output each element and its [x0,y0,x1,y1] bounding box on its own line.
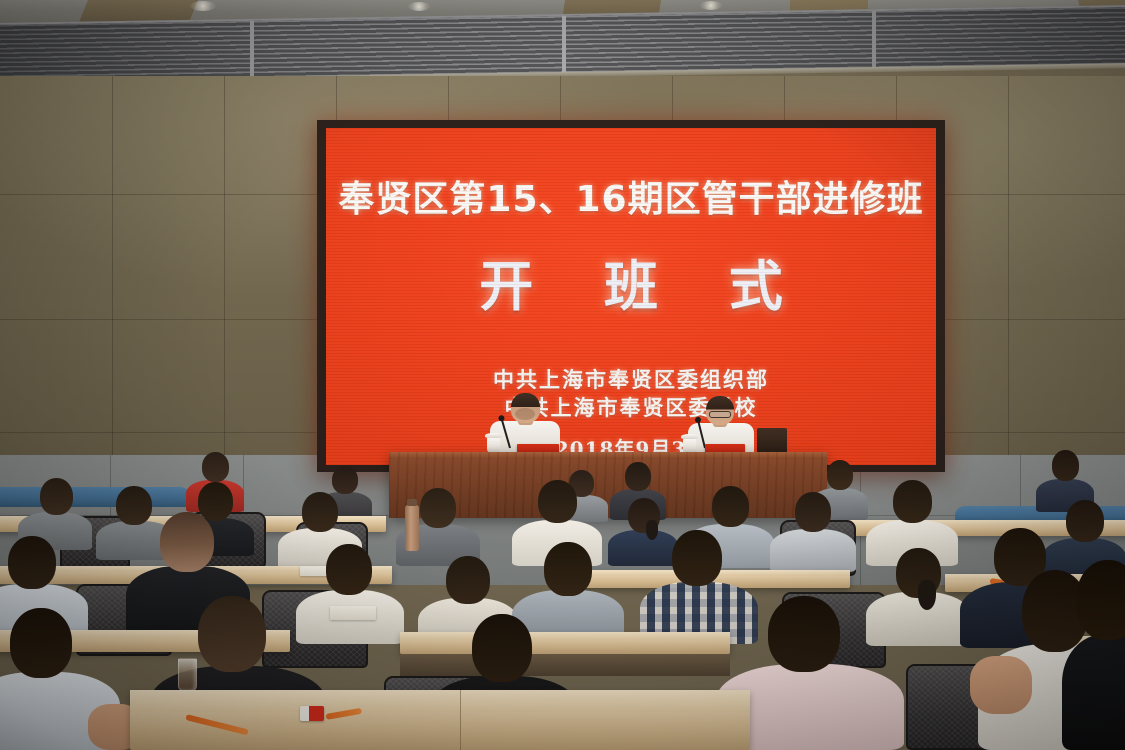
head [538,480,577,523]
audience-person-r2-9 [770,492,856,572]
plastic-cup-foreground [178,658,197,691]
audience-person-r4-1 [0,608,120,750]
head [40,478,73,515]
head [10,608,72,678]
official-right-glasses-icon [709,411,731,418]
ceiling-spotlight-1 [190,1,216,11]
desk-split-seam [460,690,461,750]
ponytail [918,580,936,610]
head [446,556,490,604]
head [893,480,932,523]
head [332,466,358,494]
body [1062,634,1125,750]
head [544,542,592,596]
teacup-lid-left-icon [485,433,502,438]
body [770,529,856,572]
wall-seam-v-1 [112,76,113,476]
led-display-bezel: 奉贤区第15、16期区管干部进修班 开 班 式 中共上海市奉贤区委组织部 中共上… [317,120,945,472]
screen-headline: 开 班 式 [453,260,809,314]
ceiling-spotlight-3 [700,1,722,10]
screen-org-line-1: 中共上海市奉贤区委组织部 [493,366,769,394]
name-badge-foreground [300,706,324,721]
head [202,452,229,482]
wall-seam-v-2 [224,76,225,476]
led-display-screen: 奉贤区第15、16期区管干部进修班 开 班 式 中共上海市奉贤区委组织部 中共上… [326,128,936,465]
head [472,614,532,682]
head [1052,450,1079,481]
head [8,536,56,589]
official-left-face-shadow [515,408,535,420]
desk-row-4-foreground [130,690,750,750]
audience-person-r4-6 [1062,560,1125,750]
thermos-cap-icon [407,499,417,506]
head [160,512,214,572]
teacup-left [487,437,500,453]
head [326,544,372,595]
head [827,460,853,490]
desk-edge [130,690,750,712]
head [795,492,831,532]
head [302,492,338,532]
head [420,488,456,528]
head [1076,560,1125,640]
teacup-lid-right-icon [681,434,698,439]
conference-hall-photo: 奉贤区第15、16期区管干部进修班 开 班 式 中共上海市奉贤区委组织部 中共上… [0,0,1125,750]
head [625,462,651,491]
wall-seam-v-9 [1008,76,1009,476]
arm [970,656,1032,714]
screen-title: 奉贤区第15、16期区管干部进修班 [338,182,923,218]
head [768,596,840,672]
head [198,596,266,672]
thermos-bottle-r2 [405,505,419,551]
ceiling-spotlight-2 [408,2,430,11]
head [672,530,722,586]
laptop-right [757,428,787,454]
head [712,486,749,527]
paper-r3 [330,606,376,620]
